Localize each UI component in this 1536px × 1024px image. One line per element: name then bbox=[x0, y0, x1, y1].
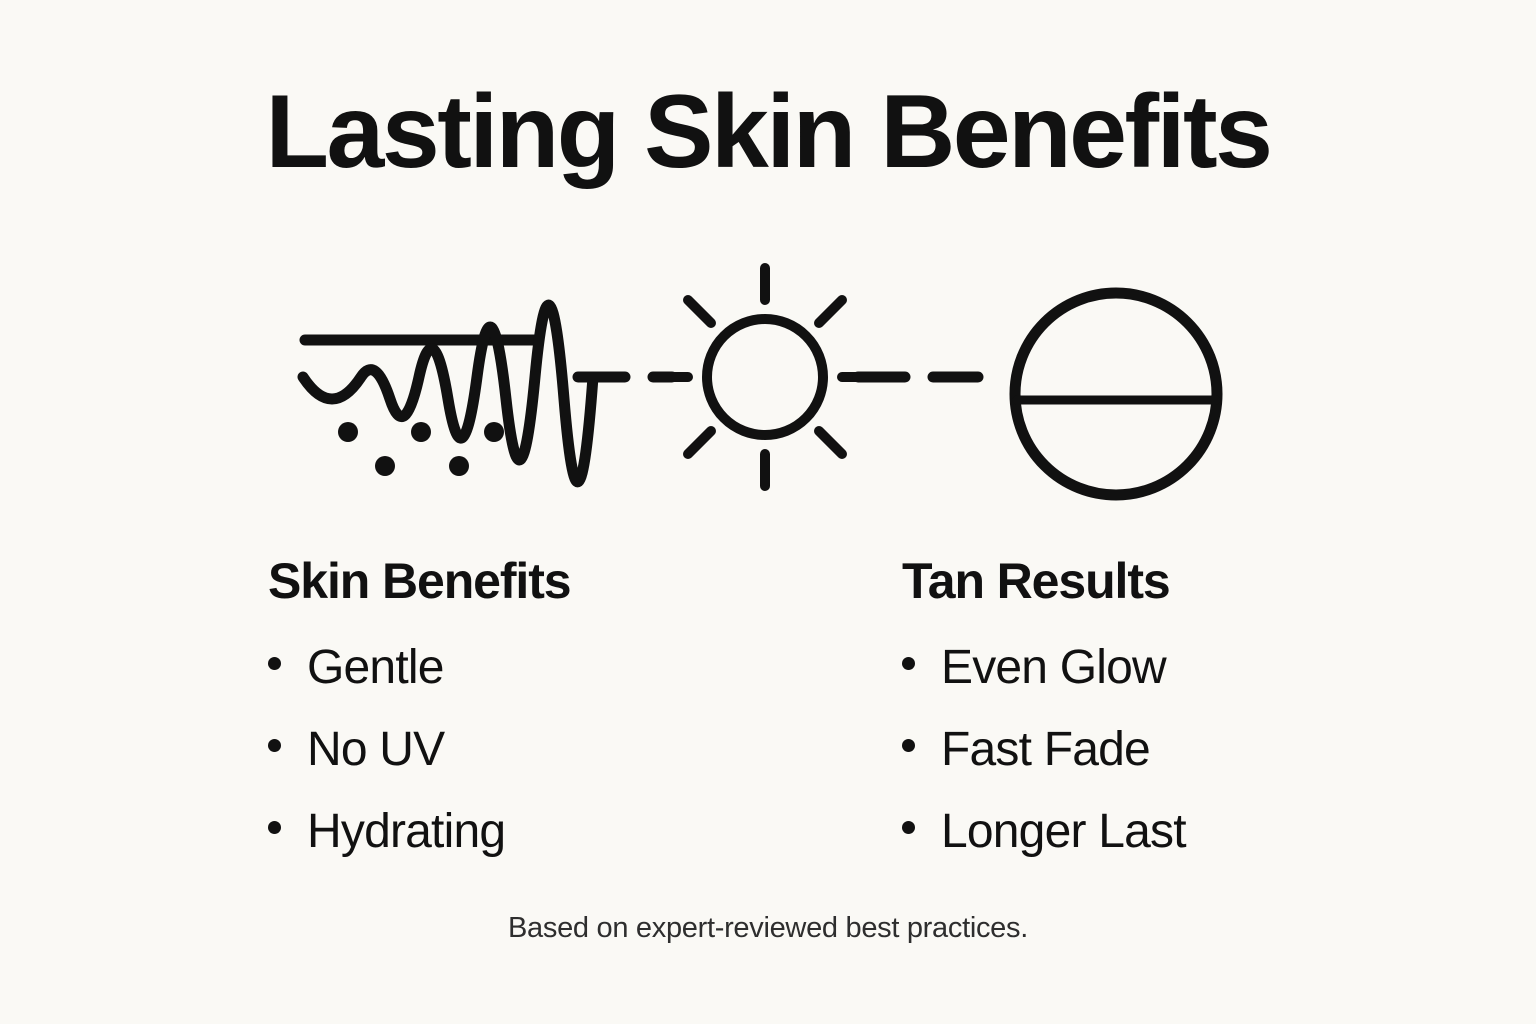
skin-benefits-list: Gentle No UV Hydrating bbox=[268, 644, 828, 856]
infographic-canvas: Lasting Skin Benefits bbox=[0, 0, 1536, 1024]
half-filled-circle-icon bbox=[0, 250, 1536, 510]
list-item: Longer Last bbox=[902, 808, 1462, 856]
list-item-label: No UV bbox=[307, 726, 444, 774]
list-item-label: Longer Last bbox=[941, 808, 1186, 856]
list-item-label: Fast Fade bbox=[941, 726, 1150, 774]
list-item: Even Glow bbox=[902, 644, 1462, 692]
benefit-columns: Skin Benefits Gentle No UV Hydrating Tan… bbox=[0, 556, 1536, 886]
list-item-label: Even Glow bbox=[941, 644, 1166, 692]
tan-results-list: Even Glow Fast Fade Longer Last bbox=[902, 644, 1462, 856]
column-heading-skin-benefits: Skin Benefits bbox=[268, 556, 828, 606]
icon-strip bbox=[0, 250, 1536, 510]
list-item-label: Gentle bbox=[307, 644, 444, 692]
list-item: No UV bbox=[268, 726, 828, 774]
bullet-dot-icon bbox=[268, 739, 281, 752]
bullet-dot-icon bbox=[902, 657, 915, 670]
list-item-label: Hydrating bbox=[307, 808, 505, 856]
list-item: Gentle bbox=[268, 644, 828, 692]
column-heading-tan-results: Tan Results bbox=[902, 556, 1462, 606]
page-title: Lasting Skin Benefits bbox=[0, 78, 1536, 187]
column-tan-results: Tan Results Even Glow Fast Fade Longer L… bbox=[902, 556, 1462, 890]
bullet-dot-icon bbox=[902, 739, 915, 752]
bullet-dot-icon bbox=[268, 657, 281, 670]
bullet-dot-icon bbox=[268, 821, 281, 834]
list-item: Fast Fade bbox=[902, 726, 1462, 774]
footer-note: Based on expert-reviewed best practices. bbox=[0, 912, 1536, 945]
column-skin-benefits: Skin Benefits Gentle No UV Hydrating bbox=[268, 556, 828, 890]
tan-circle-outline bbox=[1015, 293, 1217, 495]
list-item: Hydrating bbox=[268, 808, 828, 856]
bullet-dot-icon bbox=[902, 821, 915, 834]
